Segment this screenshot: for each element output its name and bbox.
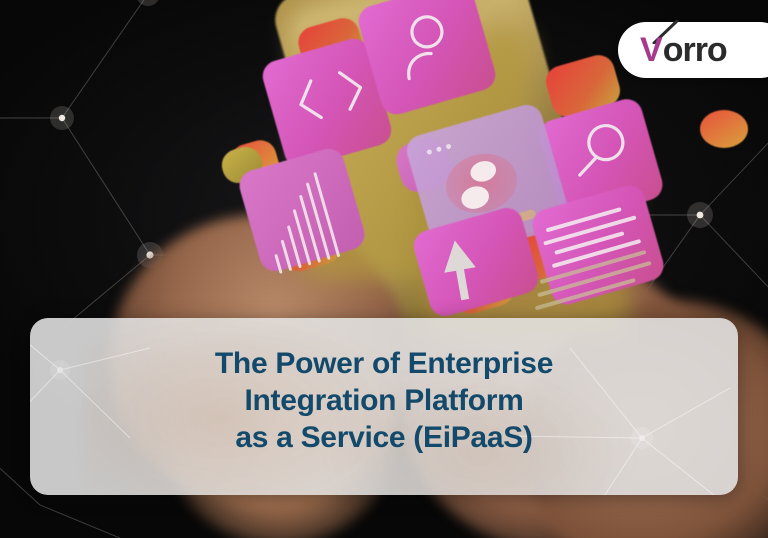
title-card: The Power of Enterprise Integration Plat… (30, 318, 738, 495)
title-line-3: as a Service (EiPaaS) (30, 419, 738, 456)
logo-wordmark: V orro (640, 33, 727, 67)
hero-banner: The Power of Enterprise Integration Plat… (0, 0, 768, 538)
title-line-1: The Power of Enterprise (30, 345, 738, 382)
vorro-logo[interactable]: V orro (618, 22, 768, 78)
logo-letter-v: V (640, 33, 663, 67)
title-line-2: Integration Platform (30, 382, 738, 419)
page-title: The Power of Enterprise Integration Plat… (30, 318, 738, 456)
